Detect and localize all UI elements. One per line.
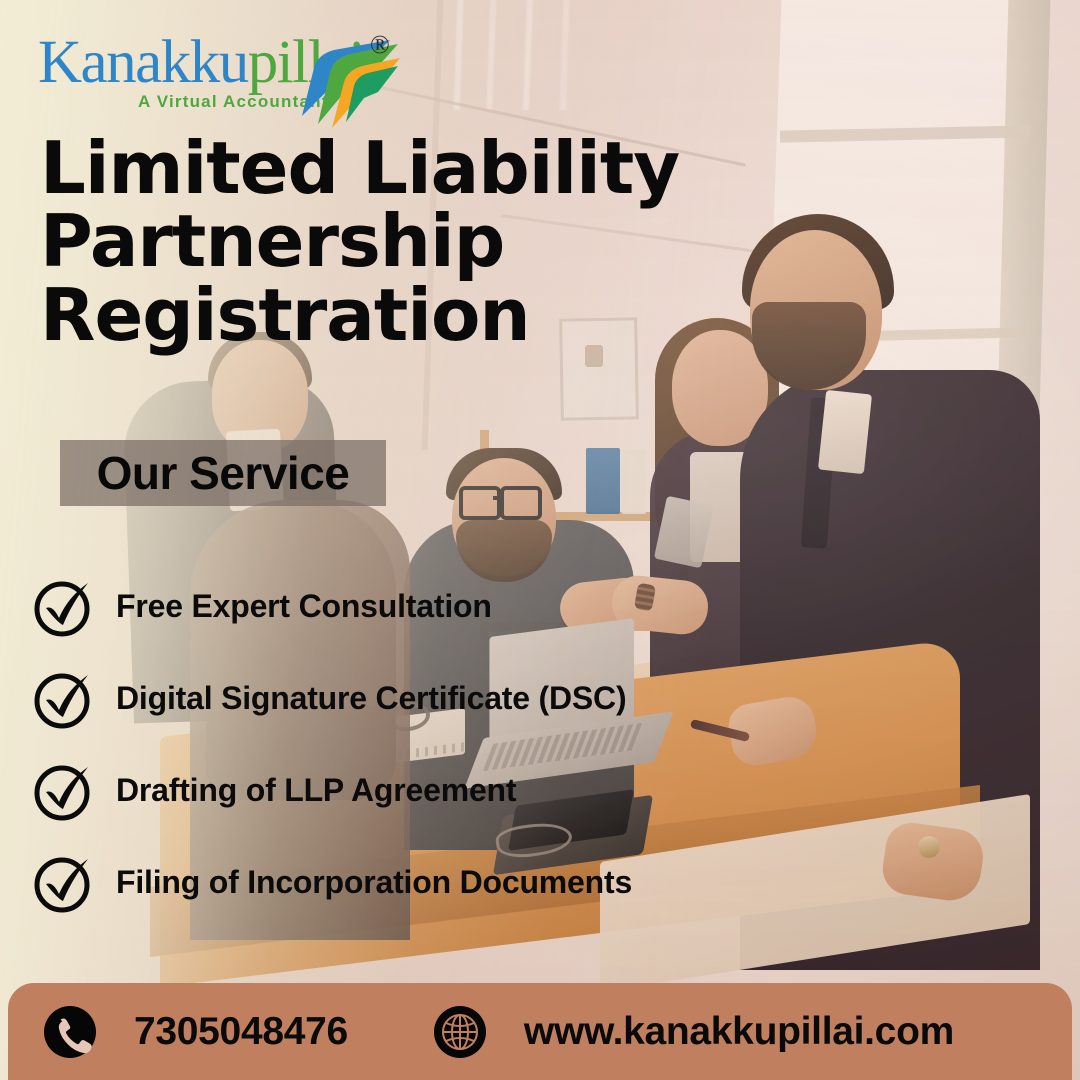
list-item: Free Expert Consultation — [32, 560, 732, 652]
contact-phone[interactable]: 7305048476 — [42, 1004, 348, 1060]
website-url: www.kanakkupillai.com — [524, 1010, 954, 1054]
service-label: Filing of Incorporation Documents — [116, 864, 632, 901]
registered-trademark-icon: ® — [370, 30, 390, 60]
check-circle-icon — [32, 575, 94, 637]
check-circle-icon — [32, 851, 94, 913]
list-item: Drafting of LLP Agreement — [32, 744, 732, 836]
list-item: Filing of Incorporation Documents — [32, 836, 732, 928]
list-item: Digital Signature Certificate (DSC) — [32, 652, 732, 744]
phone-number: 7305048476 — [134, 1010, 348, 1054]
headline-line-2: Partnership — [40, 205, 760, 278]
page-title: Limited Liability Partnership Registrati… — [40, 132, 760, 352]
headline-line-1: Limited Liability — [40, 132, 760, 205]
contact-footer-bar: 7305048476 www.kanakkupillai.com — [8, 983, 1072, 1080]
brand-logo[interactable]: Kanakkupillai A Virtual Accountant ® — [38, 24, 368, 110]
phone-icon — [42, 1004, 98, 1060]
globe-icon — [432, 1004, 488, 1060]
services-list: Free Expert Consultation Digital Signatu… — [32, 560, 732, 928]
section-heading-label: Our Service — [97, 446, 350, 500]
logo-word-kanakku: Kanakku — [38, 29, 248, 96]
contact-website[interactable]: www.kanakkupillai.com — [432, 1004, 954, 1060]
service-label: Digital Signature Certificate (DSC) — [116, 680, 626, 717]
check-circle-icon — [32, 667, 94, 729]
section-heading-badge: Our Service — [60, 440, 386, 506]
check-circle-icon — [32, 759, 94, 821]
service-label: Free Expert Consultation — [116, 588, 492, 625]
promotional-poster: Kanakkupillai A Virtual Accountant ® Lim… — [0, 0, 1080, 1080]
headline-line-3: Registration — [40, 279, 760, 352]
service-label: Drafting of LLP Agreement — [116, 772, 516, 809]
